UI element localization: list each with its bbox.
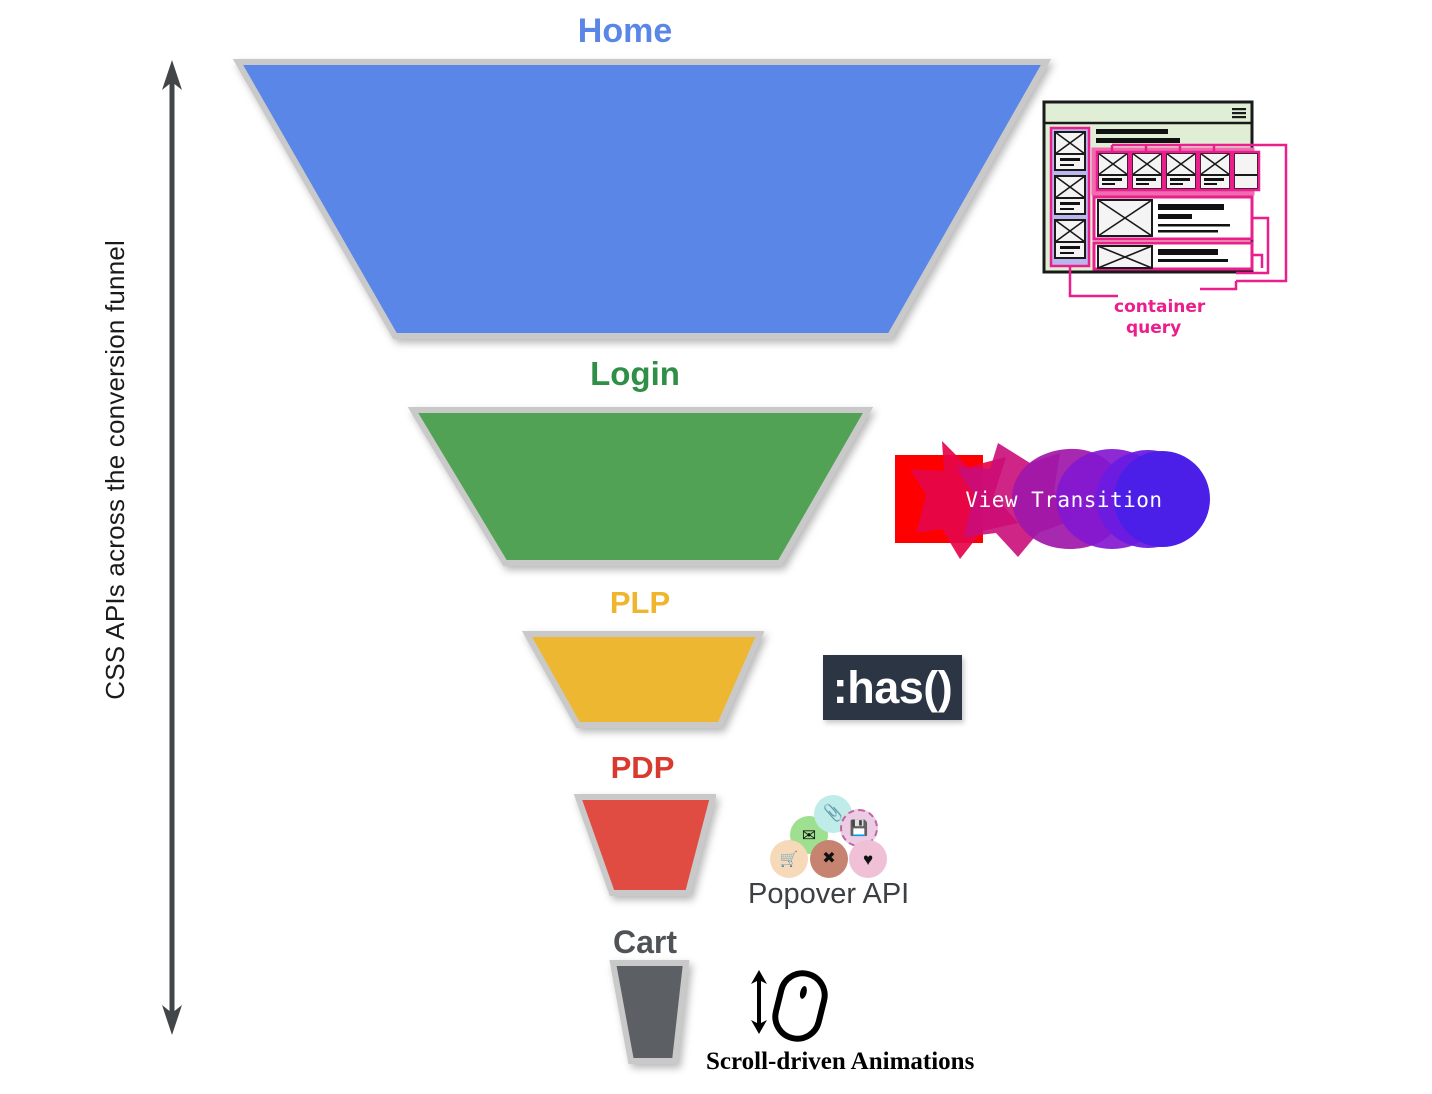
container-query-annotation: container query: [1112, 290, 1262, 345]
funnel-stage-pdp: [570, 790, 716, 909]
funnel-stage-home: [230, 55, 1060, 355]
funnel-stage-plp: [519, 627, 764, 742]
view-transition-illustration: View Transition: [890, 437, 1220, 562]
popover-api-chip-group: ✉ 📎 💾 🛒 ✖ ♥: [770, 793, 890, 873]
stage-label-plp: PLP: [540, 585, 740, 621]
has-selector-badge: :has(): [823, 655, 962, 720]
double-arrow-vertical-icon: [160, 60, 184, 1035]
popover-api-label: Popover API: [748, 878, 909, 911]
has-selector-label: :has(): [833, 662, 953, 714]
heart-icon[interactable]: ♥: [849, 840, 887, 878]
close-x-icon[interactable]: ✖: [810, 840, 848, 878]
scroll-driven-animations-label: Scroll-driven Animations: [706, 1048, 974, 1076]
stage-label-pdp: PDP: [545, 750, 740, 786]
container-query-line1: container: [1114, 297, 1206, 317]
shopping-cart-icon[interactable]: 🛒: [770, 840, 808, 878]
computer-mouse-icon: [748, 968, 833, 1046]
view-transition-label: View Transition: [890, 437, 1220, 562]
axis-label: CSS APIs across the conversion funnel: [100, 240, 140, 700]
stage-label-home: Home: [440, 12, 810, 51]
funnel-stage-login: [405, 403, 880, 580]
stage-label-login: Login: [455, 355, 815, 393]
funnel-stage-cart: [605, 956, 690, 1077]
container-query-line2: query: [1126, 318, 1181, 338]
scroll-updown-arrow-icon: [751, 970, 767, 1034]
stage-label-cart: Cart: [555, 924, 735, 961]
funnel-diagram-canvas: CSS APIs across the conversion funnel Ho…: [0, 0, 1432, 1094]
hamburger-menu-icon: [1232, 108, 1246, 118]
